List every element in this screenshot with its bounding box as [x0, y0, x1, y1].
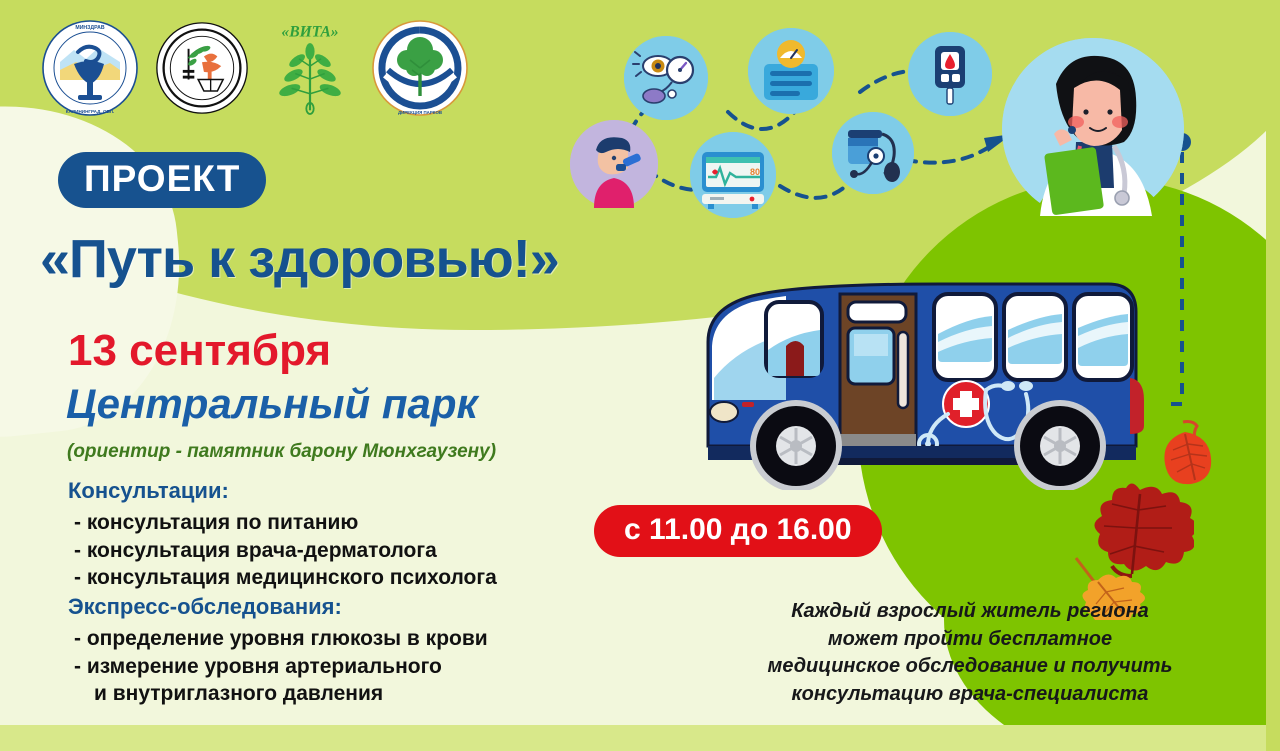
- express-exams-item: - определение уровня глюкозы в крови: [68, 625, 488, 653]
- red-leaf: [1155, 418, 1217, 488]
- eye-tonometer-icon: [624, 36, 708, 120]
- poster-canvas: МИНЗДРАВ КАЛИНИНГРАД. ОБЛ.: [0, 0, 1280, 751]
- consultations-item: - консультация медицинского психолога: [68, 564, 497, 592]
- mobile-clinic-bus: [690, 250, 1180, 490]
- consultations-item: - консультация врача-дерматолога: [68, 537, 497, 565]
- svg-text:ДИРЕКЦИЯ ПАРКОВ: ДИРЕКЦИЯ ПАРКОВ: [398, 110, 442, 115]
- express-exams-heading: Экспресс-обследования:: [68, 594, 488, 620]
- event-date: 13 сентября: [68, 326, 331, 376]
- express-exams-item: и внутриглазного давления: [68, 680, 488, 708]
- svg-text:«ВИТА»: «ВИТА»: [281, 24, 338, 41]
- project-badge: ПРОЕКТ: [58, 152, 266, 208]
- ecg-monitor-icon: 80: [690, 132, 776, 218]
- medical-chart-icon: [748, 28, 834, 114]
- doctor-illustration: [1002, 38, 1184, 220]
- logo-center-public-health: [154, 20, 250, 116]
- background-green-right-edge: [1266, 0, 1280, 751]
- svg-text:КАЛИНИНГРАД. ОБЛ.: КАЛИНИНГРАД. ОБЛ.: [66, 109, 114, 114]
- logo-vita: «ВИТА»: [264, 20, 356, 116]
- patient-inhaler-icon: [570, 120, 658, 208]
- logo-landscape-parks-directorate: ДИРЕКЦИЯ ПАРКОВ: [370, 18, 470, 118]
- express-exams-section: Экспресс-обследования: - определение уро…: [68, 594, 488, 708]
- svg-text:80: 80: [750, 167, 760, 177]
- blood-pressure-cuff-icon: [832, 112, 914, 194]
- time-badge: с 11.00 до 16.00: [594, 505, 882, 557]
- free-exam-note: Каждый взрослый житель региона может про…: [760, 598, 1180, 708]
- partner-logos: МИНЗДРАВ КАЛИНИНГРАД. ОБЛ.: [40, 18, 470, 118]
- express-exams-item: - измерение уровня артериального: [68, 653, 488, 681]
- page-title: «Путь к здоровью!»: [40, 228, 559, 290]
- svg-text:МИНЗДРАВ: МИНЗДРАВ: [75, 25, 104, 31]
- logo-ministry-health-kaliningrad: МИНЗДРАВ КАЛИНИНГРАД. ОБЛ.: [40, 18, 140, 118]
- event-landmark: (ориентир - памятник барону Мюнхгаузену): [67, 441, 496, 463]
- consultations-heading: Консультации:: [68, 478, 497, 504]
- background-green-bottom-strip: [0, 725, 1280, 751]
- event-place: Центральный парк: [66, 380, 478, 428]
- glucometer-icon: [908, 32, 992, 116]
- consultations-section: Консультации: - консультация по питанию …: [68, 478, 497, 592]
- consultations-item: - консультация по питанию: [68, 509, 497, 537]
